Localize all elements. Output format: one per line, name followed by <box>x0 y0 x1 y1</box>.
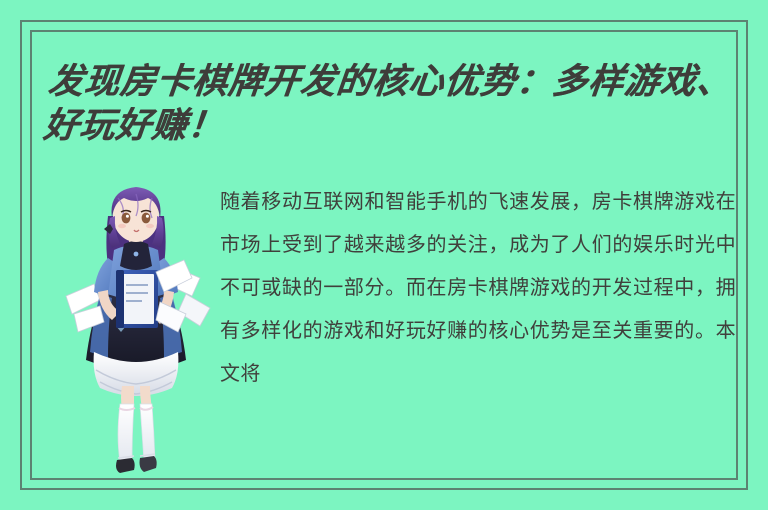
book <box>116 270 158 328</box>
article-banner-page: { "page": { "background_color": "#7cf5c1… <box>0 0 768 510</box>
banner-content: 发现房卡棋牌开发的核心优势：多样游戏、好玩好赚！ <box>32 32 736 478</box>
article-title: 发现房卡棋牌开发的核心优势：多样游戏、好玩好赚！ <box>41 60 740 148</box>
illustration-anime-girl <box>60 174 212 474</box>
article-body-paragraph: 随着移动互联网和智能手机的飞速发展，房卡棋牌游戏在市场上受到了越来越多的关注，成… <box>220 180 736 395</box>
